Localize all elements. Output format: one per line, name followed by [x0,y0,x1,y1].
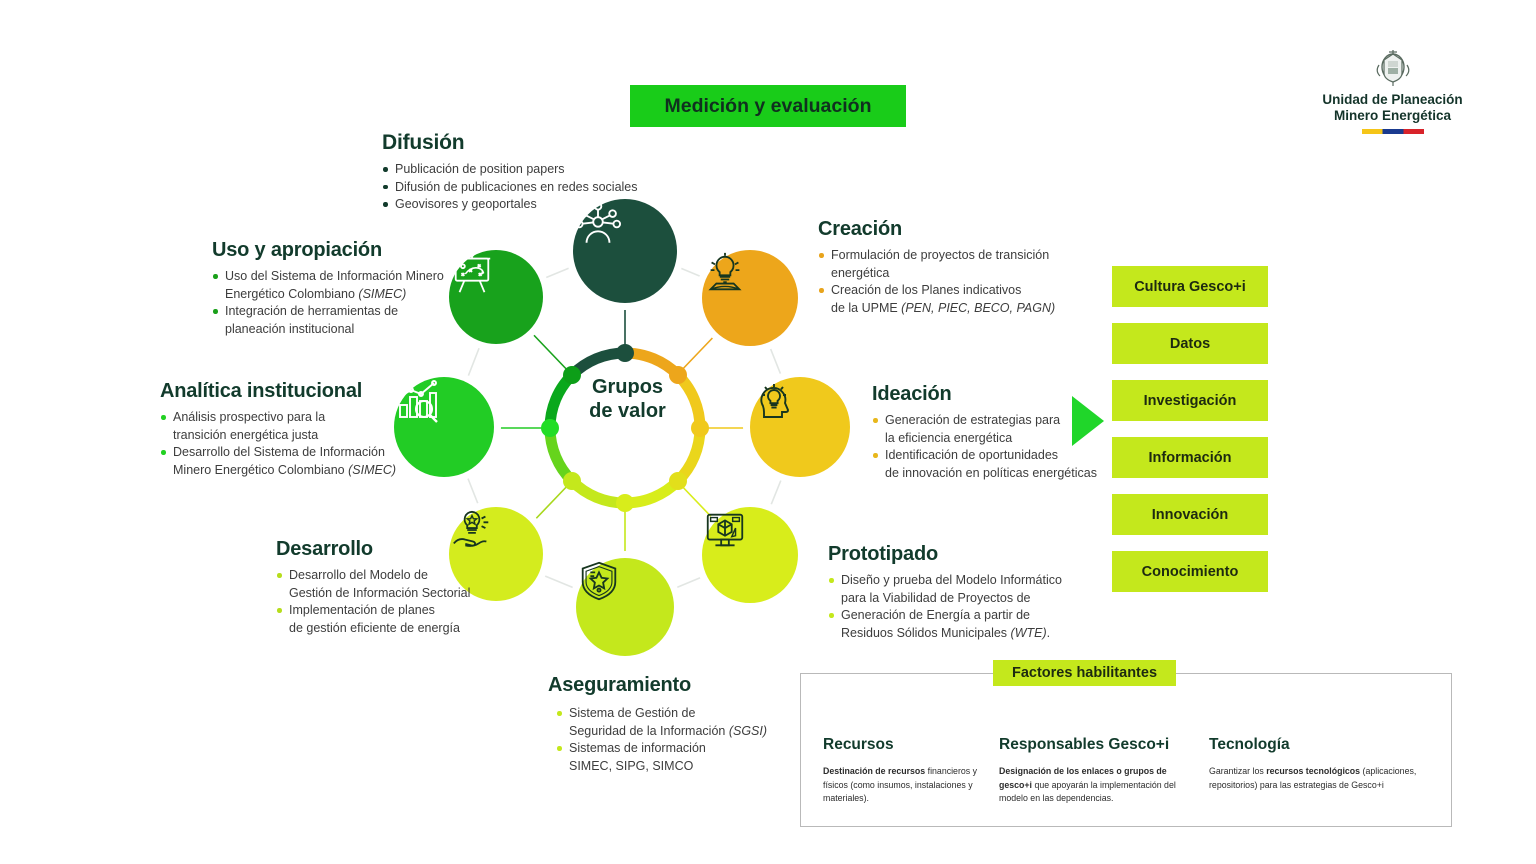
colombia-flag-bar [1362,129,1424,134]
bullet-cont: la eficiencia energética [872,430,1097,447]
bullet: Publicación de position papers [382,161,638,178]
bullet: Generación de estrategias para [872,412,1097,429]
upme-logo: Unidad de Planeación Minero Energética [1300,45,1485,150]
pillar-datos[interactable]: Datos [1112,323,1268,364]
factor-text: Designación de los enlaces o grupos de g… [999,765,1189,806]
logo-line-2: Minero Energética [1300,108,1485,124]
pillar-label: Conocimiento [1142,564,1239,580]
strategy-board-icon [449,250,495,296]
section-bullets: Publicación de position papers Difusión … [382,161,638,213]
medicion-y-evaluacion-banner: Medición y evaluación [630,85,906,127]
pillar-label: Innovación [1152,507,1229,523]
factores-title: Factores habilitantes [1012,665,1157,681]
pillar-label: Datos [1170,336,1210,352]
factor-column-responsables: Responsables Gesco+i Designación de los … [999,736,1189,806]
bullet-cont: para la Viabilidad de Proyectos de [828,590,1062,607]
section-bullets: Uso del Sistema de Información Minero En… [212,268,444,337]
bullet-cont: planeación institucional [212,321,444,338]
right-arrow-icon [1072,396,1104,446]
banner-label: Medición y evaluación [665,95,872,118]
section-title: Desarrollo [276,538,470,561]
node-prototipado[interactable] [702,507,798,603]
bullet-cont: Gestión de Información Sectorial [276,585,470,602]
node-aseguramiento[interactable] [576,558,674,656]
bullet: Sistemas de información [556,740,767,757]
bullet: Diseño y prueba del Modelo Informático [828,572,1062,589]
section-title: Difusión [382,131,638,155]
node-ideacion[interactable] [750,377,850,477]
node-difusion[interactable] [573,199,677,303]
node-creacion[interactable] [702,250,798,346]
pillar-label: Información [1149,450,1232,466]
node-analitica-institucional[interactable] [394,377,494,477]
section-title: Ideación [872,383,1097,406]
bullet: Formulación de proyectos de transición [818,247,1055,264]
bullet: Creación de los Planes indicativos [818,282,1055,299]
section-creacion: Creación Formulación de proyectos de tra… [818,218,1055,317]
pillar-innovacion[interactable]: Innovación [1112,494,1268,535]
pillar-investigacion[interactable]: Investigación [1112,380,1268,421]
bullet: Generación de Energía a partir de [828,607,1062,624]
bullet: Integración de herramientas de [212,303,444,320]
bullet: Geovisores y geoportales [382,196,638,213]
factor-text: Garantizar los recursos tecnológicos (ap… [1209,765,1431,792]
factor-text: Destinación de recursos financieros y fí… [823,765,988,806]
section-bullets: Análisis prospectivo para la transición … [160,409,396,478]
bullet: Implementación de planes [276,602,470,619]
section-difusion: Difusión Publicación de position papers … [382,131,638,214]
logo-line-1: Unidad de Planeación [1300,92,1485,108]
pillar-label: Investigación [1144,393,1237,409]
bullet: Desarrollo del Sistema de Información [160,444,396,461]
bullet-cont: Energético Colombiano (SIMEC) [212,286,444,303]
factor-heading: Tecnología [1209,736,1431,754]
section-bullets: Formulación de proyectos de transición e… [818,247,1055,316]
bullet: Análisis prospectivo para la [160,409,396,426]
factor-lead: recursos tecnológicos [1266,766,1360,776]
lightbulb-hand-icon [702,250,748,296]
bullet: Uso del Sistema de Información Minero [212,268,444,285]
head-lightbulb-icon [750,377,798,425]
section-title: Prototipado [828,543,1062,566]
factor-column-tecnologia: Tecnología Garantizar los recursos tecno… [1209,736,1431,792]
hub-line-1: Grupos [550,375,705,399]
shield-star-icon [576,558,622,604]
pillar-cultura-gesco-i[interactable]: Cultura Gesco+i [1112,266,1268,307]
section-bullets: Desarrollo del Modelo de Gestión de Info… [276,567,470,636]
hub-line-2: de valor [550,399,705,423]
bullet-cont: Seguridad de la Información (SGSI) [556,723,767,740]
bullet-cont: SIMEC, SIPG, SIMCO [556,758,767,775]
bullet-cont: de innovación en políticas energéticas [872,465,1097,482]
bullet: Sistema de Gestión de [556,705,767,722]
section-prototipado: Prototipado Diseño y prueba del Modelo I… [828,543,1062,642]
bullet-cont: de la UPME (PEN, PIEC, BECO, PAGN) [818,300,1055,317]
bullet: Desarrollo del Modelo de [276,567,470,584]
pillar-informacion[interactable]: Información [1112,437,1268,478]
section-bullets: Diseño y prueba del Modelo Informático p… [828,572,1062,641]
factor-lead: Destinación de recursos [823,766,925,776]
factor-lead-pre: Garantizar los [1209,766,1266,776]
colombia-coat-of-arms-icon [1371,45,1415,89]
section-uso-y-apropiacion: Uso y apropiación Uso del Sistema de Inf… [212,239,444,338]
section-desarrollo: Desarrollo Desarrollo del Modelo de Gest… [276,538,470,637]
bullet-cont: Residuos Sólidos Municipales (WTE). [828,625,1062,642]
section-title: Uso y apropiación [212,239,444,262]
pillar-conocimiento[interactable]: Conocimiento [1112,551,1268,592]
hub-label: Grupos de valor [550,375,705,423]
section-ideacion: Ideación Generación de estrategias para … [872,383,1097,482]
chart-magnifier-icon [394,377,442,425]
section-analitica-institucional: Analítica institucional Análisis prospec… [160,380,396,479]
section-title: Analítica institucional [160,380,396,403]
bullet-cont: energética [818,265,1055,282]
factor-column-recursos: Recursos Destinación de recursos financi… [823,736,988,806]
pillar-label: Cultura Gesco+i [1134,279,1246,295]
3d-design-monitor-icon [702,507,748,553]
bullet-cont: Minero Energético Colombiano (SIMEC) [160,462,396,479]
bullet-cont: de gestión eficiente de energía [276,620,470,637]
node-uso-y-apropiacion[interactable] [449,250,543,344]
factores-title-badge: Factores habilitantes [993,660,1176,686]
bullet: Difusión de publicaciones en redes socia… [382,179,638,196]
factores-habilitantes-panel: Factores habilitantes Recursos Destinaci… [800,673,1452,827]
factor-heading: Recursos [823,736,988,754]
factor-heading: Responsables Gesco+i [999,736,1189,754]
section-bullets: Generación de estrategias para la eficie… [872,412,1097,481]
section-aseguramiento: Aseguramiento Sistema de Gestión de Segu… [548,674,767,775]
infographic-canvas: Medición y evaluación Unidad de Planeaci… [0,0,1536,864]
bullet: Identificación de oportunidades [872,447,1097,464]
section-title: Creación [818,218,1055,241]
section-title: Aseguramiento [548,674,767,697]
section-bullets: Sistema de Gestión de Seguridad de la In… [556,705,767,774]
bullet-cont: transición energética justa [160,427,396,444]
